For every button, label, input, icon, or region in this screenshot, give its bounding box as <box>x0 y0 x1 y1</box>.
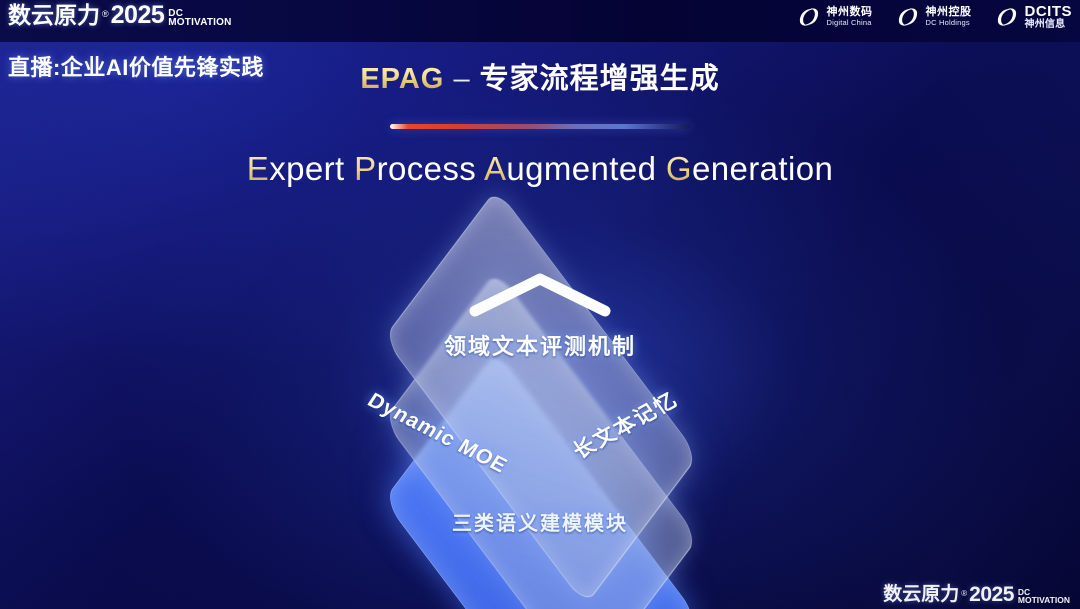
gradient-divider <box>390 124 690 129</box>
acronym-letter-a: A <box>484 150 506 187</box>
word-generation-rest: eneration <box>692 150 833 187</box>
word-augmented-rest: ugmented <box>506 150 656 187</box>
layer-top-label: 领域文本评测机制 <box>300 329 780 361</box>
swirl-logo-icon <box>994 4 1020 30</box>
acronym-letter-e: E <box>247 150 269 187</box>
layer-bottom-label: 三类语义建模模块 <box>300 507 780 536</box>
live-subtitle: 直播:企业AI价值先锋实践 <box>8 50 264 82</box>
acronym-letter-p: P <box>354 150 376 187</box>
watermark-dc-line2: MOTIVATION <box>1018 596 1070 604</box>
partner-logo-group: 神州数码 Digital China 神州控股 DC Holdings <box>796 4 1073 30</box>
partner-label: 神州控股 DC Holdings <box>926 7 972 26</box>
isometric-layer-diagram: 领域文本评测机制 Dynamic MOE 长文本记忆 三类语义建模模块 <box>300 225 780 565</box>
partner-logo-digital-china: 神州数码 Digital China <box>796 4 873 30</box>
slide-canvas: 数云原力 ® 2025 DC MOTIVATION 直播:企业AI价值先锋实践 … <box>0 0 1080 609</box>
footer-watermark-logo: 数云原力 ® 2025 DC MOTIVATION <box>883 584 1070 605</box>
partner-name-en: 神州信息 <box>1025 20 1073 31</box>
watermark-registered-mark: ® <box>961 589 967 598</box>
partner-logo-dcits: DCITS 神州信息 <box>994 4 1073 30</box>
word-expert-rest: xpert <box>269 150 344 187</box>
brand-logo: 数云原力 ® 2025 DC MOTIVATION <box>8 2 232 28</box>
watermark-year: 2025 <box>969 584 1014 605</box>
watermark-dc-motivation: DC MOTIVATION <box>1018 588 1070 604</box>
partner-name-en: DC Holdings <box>926 19 972 27</box>
title-acronym: EPAG <box>360 63 444 95</box>
partner-name-cn: DCITS <box>1025 4 1073 20</box>
brand-dc-line2: MOTIVATION <box>168 18 231 27</box>
title-dash: – <box>453 63 470 95</box>
title-chinese: 专家流程增强生成 <box>480 63 720 95</box>
brand-year: 2025 <box>111 2 165 28</box>
english-expansion-title: Expert Process Augmented Generation <box>0 150 1080 188</box>
partner-label: 神州数码 Digital China <box>827 7 873 26</box>
swirl-logo-icon <box>796 4 822 30</box>
partner-name-en: Digital China <box>827 19 873 27</box>
partner-logo-dc-holdings: 神州控股 DC Holdings <box>895 4 972 30</box>
acronym-letter-g: G <box>666 150 692 187</box>
swirl-logo-icon <box>895 4 921 30</box>
brand-name-cn: 数云原力 <box>8 2 100 28</box>
watermark-name-cn: 数云原力 <box>883 584 959 605</box>
partner-label: DCITS 神州信息 <box>1025 4 1073 30</box>
chevron-up-icon <box>465 271 615 317</box>
brand-registered-mark: ® <box>102 9 109 19</box>
word-process-rest: rocess <box>377 150 477 187</box>
brand-dc-motivation: DC MOTIVATION <box>168 9 231 27</box>
